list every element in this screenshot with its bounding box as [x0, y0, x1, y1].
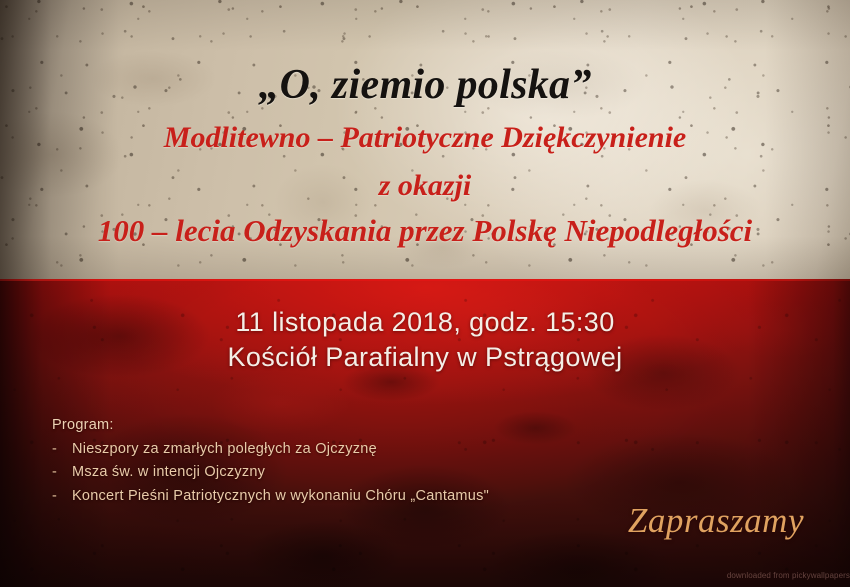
poster-subtitle-line-3: 100 – lecia Odzyskania przez Polskę Niep… [0, 215, 850, 248]
poster-content: „O, ziemio polska” Modlitewno – Patrioty… [0, 0, 850, 587]
program-bullet-dash: - [52, 489, 72, 504]
program-bullet-dash: - [52, 442, 72, 457]
program-item-label: Koncert Pieśni Patriotycznych w wykonani… [72, 489, 489, 504]
source-watermark: downloaded from pickywallpapers [727, 571, 850, 580]
poster-subtitle-line-2: z okazji [0, 170, 850, 202]
poster-canvas: „O, ziemio polska” Modlitewno – Patrioty… [0, 0, 850, 587]
program-list: Program: - Nieszpory za zmarłych poległy… [52, 418, 489, 512]
program-item-label: Nieszpory za zmarłych poległych za Ojczy… [72, 442, 377, 457]
program-item-label: Msza św. w intencji Ojczyzny [72, 465, 265, 480]
event-venue: Kościół Parafialny w Pstrągowej [0, 340, 850, 375]
program-bullet-dash: - [52, 465, 72, 480]
poster-title: „O, ziemio polska” [0, 63, 850, 107]
program-item: - Koncert Pieśni Patriotycznych w wykona… [52, 489, 489, 504]
program-item: - Nieszpory za zmarłych poległych za Ojc… [52, 442, 489, 457]
event-datetime: 11 listopada 2018, godz. 15:30 [0, 305, 850, 340]
program-item: - Msza św. w intencji Ojczyzny [52, 465, 489, 480]
program-heading: Program: [52, 418, 489, 433]
poster-subtitle-line-1: Modlitewno – Patriotyczne Dziękczynienie [0, 122, 850, 154]
invitation-signature: Zapraszamy [628, 501, 804, 541]
event-details: 11 listopada 2018, godz. 15:30 Kościół P… [0, 305, 850, 375]
